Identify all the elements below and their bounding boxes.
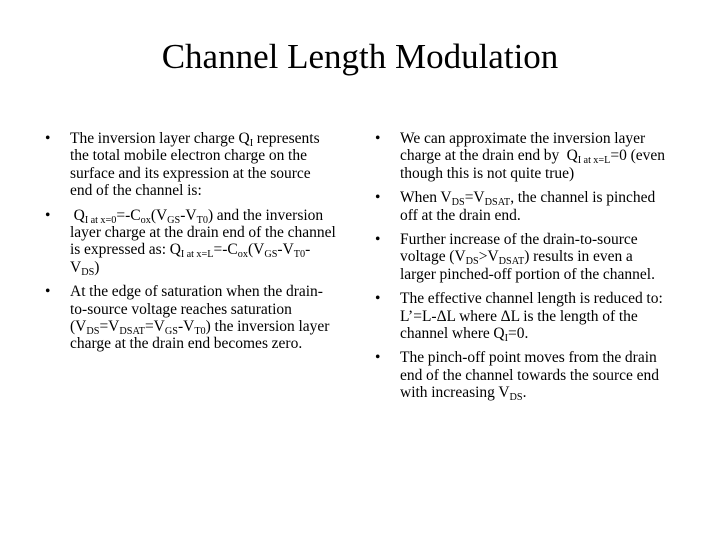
bullet-point-icon: • <box>375 290 380 307</box>
bullet-point-icon: • <box>375 231 380 248</box>
page-title: Channel Length Modulation <box>36 36 684 78</box>
bullet-point-icon: • <box>375 349 380 366</box>
list-item: • When VDS=VDSAT, the channel is pinched… <box>366 189 672 224</box>
list-item: • The effective channel length is reduce… <box>366 290 672 342</box>
list-item: • The pinch-off point moves from the dra… <box>366 349 672 401</box>
bullet-body: The pinch-off point moves from the drain… <box>400 349 672 401</box>
bullet-body: When VDS=VDSAT, the channel is pinched o… <box>400 189 672 224</box>
bullet-point-icon: • <box>375 130 380 147</box>
list-item: • Further increase of the drain-to-sourc… <box>366 231 672 283</box>
bullet-body: Further increase of the drain-to-source … <box>400 231 672 283</box>
list-item: • QI at x=0=-Cox(VGS-VT0) and the invers… <box>36 207 336 277</box>
list-item: • The inversion layer charge QI represen… <box>36 130 336 200</box>
bullet-body: At the edge of saturation when the drain… <box>70 283 336 353</box>
bullet-body: We can approximate the inversion layer c… <box>400 130 672 182</box>
list-item: • We can approximate the inversion layer… <box>366 130 672 182</box>
bullet-point-icon: • <box>45 207 50 224</box>
bullet-body: The effective channel length is reduced … <box>400 290 672 342</box>
list-item: • At the edge of saturation when the dra… <box>36 283 336 353</box>
bullet-point-icon: • <box>45 283 50 300</box>
left-text-column: • The inversion layer charge QI represen… <box>36 130 336 353</box>
right-text-column: • We can approximate the inversion layer… <box>366 130 672 402</box>
bullet-body: The inversion layer charge QI represents… <box>70 130 336 200</box>
bullet-point-icon: • <box>375 189 380 206</box>
bullet-body: QI at x=0=-Cox(VGS-VT0) and the inversio… <box>70 207 336 277</box>
bullet-point-icon: • <box>45 130 50 147</box>
